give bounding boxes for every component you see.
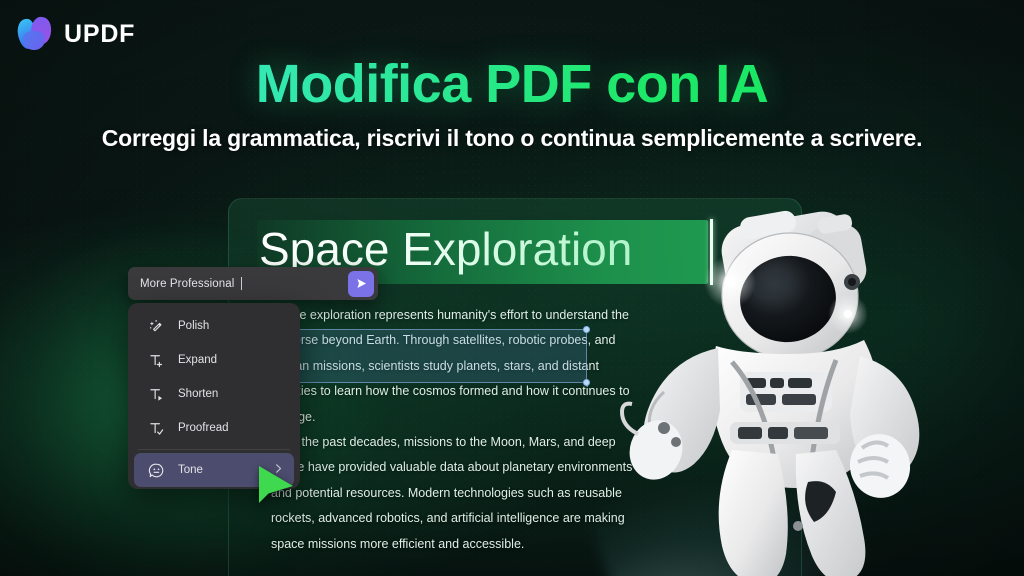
menu-item-label: Proofread bbox=[178, 422, 284, 434]
ai-actions-menu[interactable]: Polish Expand Shorten bbox=[128, 303, 300, 489]
text-proofread-icon bbox=[147, 419, 165, 437]
astronaut-illustration bbox=[612, 196, 952, 576]
send-button[interactable] bbox=[348, 271, 374, 297]
menu-item-expand[interactable]: Expand bbox=[134, 343, 294, 377]
ai-prompt-bar[interactable]: More Professional bbox=[128, 267, 378, 300]
send-icon bbox=[355, 277, 368, 290]
ai-prompt-input[interactable]: More Professional bbox=[128, 277, 348, 290]
menu-item-proofread[interactable]: Proofread bbox=[134, 411, 294, 445]
input-caret bbox=[241, 277, 242, 290]
astronaut-scene bbox=[612, 196, 952, 576]
menu-item-label: Tone bbox=[178, 464, 260, 476]
magic-wand-icon bbox=[147, 317, 165, 335]
page-title: Modifica PDF con IA bbox=[0, 53, 1024, 115]
pointer-arrow-cursor bbox=[255, 465, 297, 507]
menu-separator bbox=[138, 449, 290, 450]
brand-name: UPDF bbox=[64, 20, 135, 49]
menu-item-polish[interactable]: Polish bbox=[134, 309, 294, 343]
tone-smiley-icon bbox=[147, 461, 165, 479]
hero-stage: UPDF Modifica PDF con IA Correggi la gra… bbox=[0, 0, 1024, 576]
text-expand-icon bbox=[147, 351, 165, 369]
menu-item-label: Expand bbox=[178, 354, 284, 366]
brand-logo[interactable]: UPDF bbox=[18, 17, 135, 51]
menu-item-shorten[interactable]: Shorten bbox=[134, 377, 294, 411]
ai-prompt-value: More Professional bbox=[140, 278, 234, 290]
page-subtitle: Correggi la grammatica, riscrivi il tono… bbox=[0, 125, 1024, 152]
text-shorten-icon bbox=[147, 385, 165, 403]
text-selection-box[interactable] bbox=[263, 329, 587, 383]
selection-handle-top-right[interactable] bbox=[583, 326, 590, 333]
selection-handle-bottom-right[interactable] bbox=[583, 379, 590, 386]
updf-logo-icon bbox=[18, 17, 54, 51]
menu-item-label: Polish bbox=[178, 320, 284, 332]
menu-item-label: Shorten bbox=[178, 388, 284, 400]
